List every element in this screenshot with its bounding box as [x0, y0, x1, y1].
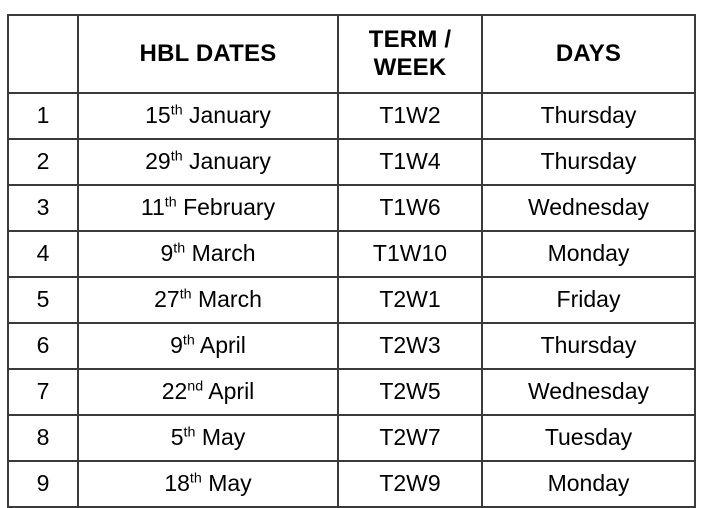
- date-day-number: 15: [145, 102, 171, 128]
- date-day-number: 27: [154, 286, 180, 312]
- cell-index: 3: [8, 185, 78, 231]
- column-header-days: DAYS: [482, 15, 695, 93]
- cell-index: 2: [8, 139, 78, 185]
- cell-index: 1: [8, 93, 78, 139]
- date-ordinal-suffix: th: [165, 195, 177, 211]
- table-body: 115th JanuaryT1W2Thursday229th JanuaryT1…: [8, 93, 695, 507]
- cell-day: Tuesday: [482, 415, 695, 461]
- cell-index: 6: [8, 323, 78, 369]
- date-month-name: May: [202, 424, 245, 450]
- cell-term-week: T1W2: [338, 93, 482, 139]
- cell-term-week: T1W6: [338, 185, 482, 231]
- cell-hbl-date: 29th January: [78, 139, 338, 185]
- date-day-number: 22: [162, 378, 188, 404]
- cell-hbl-date: 9th March: [78, 231, 338, 277]
- column-header-term-week-line1: TERM /: [339, 26, 481, 54]
- date-month-name: March: [192, 240, 256, 266]
- cell-index: 7: [8, 369, 78, 415]
- table-row: 311th FebruaryT1W6Wednesday: [8, 185, 695, 231]
- cell-term-week: T2W7: [338, 415, 482, 461]
- cell-hbl-date: 27th March: [78, 277, 338, 323]
- date-day-number: 5: [171, 424, 184, 450]
- cell-day: Monday: [482, 231, 695, 277]
- table-row: 527th MarchT2W1Friday: [8, 277, 695, 323]
- date-month-name: May: [208, 470, 251, 496]
- cell-index: 4: [8, 231, 78, 277]
- cell-hbl-date: 22nd April: [78, 369, 338, 415]
- date-ordinal-suffix: th: [171, 149, 183, 165]
- cell-index: 8: [8, 415, 78, 461]
- table-row: 85th MayT2W7Tuesday: [8, 415, 695, 461]
- table-row: 918th MayT2W9Monday: [8, 461, 695, 507]
- date-ordinal-suffix: nd: [187, 379, 203, 395]
- date-day-number: 11: [141, 194, 165, 220]
- date-month-name: April: [200, 332, 246, 358]
- date-ordinal-suffix: th: [171, 103, 183, 119]
- date-day-number: 18: [164, 470, 190, 496]
- cell-day: Thursday: [482, 139, 695, 185]
- cell-term-week: T2W5: [338, 369, 482, 415]
- date-ordinal-suffix: th: [190, 471, 202, 487]
- cell-hbl-date: 15th January: [78, 93, 338, 139]
- cell-day: Thursday: [482, 323, 695, 369]
- column-header-index: [8, 15, 78, 93]
- cell-day: Thursday: [482, 93, 695, 139]
- table-header: HBL DATES TERM / WEEK DAYS: [8, 15, 695, 93]
- cell-day: Wednesday: [482, 185, 695, 231]
- header-row: HBL DATES TERM / WEEK DAYS: [8, 15, 695, 93]
- date-month-name: February: [183, 194, 275, 220]
- cell-hbl-date: 9th April: [78, 323, 338, 369]
- cell-term-week: T2W9: [338, 461, 482, 507]
- date-ordinal-suffix: th: [183, 333, 195, 349]
- cell-term-week: T1W10: [338, 231, 482, 277]
- date-ordinal-suffix: th: [184, 425, 196, 441]
- date-ordinal-suffix: th: [173, 241, 185, 257]
- cell-index: 5: [8, 277, 78, 323]
- cell-day: Wednesday: [482, 369, 695, 415]
- date-month-name: January: [189, 148, 271, 174]
- cell-day: Friday: [482, 277, 695, 323]
- table-row: 49th MarchT1W10Monday: [8, 231, 695, 277]
- cell-index: 9: [8, 461, 78, 507]
- column-header-term-week: TERM / WEEK: [338, 15, 482, 93]
- table-row: 115th JanuaryT1W2Thursday: [8, 93, 695, 139]
- column-header-term-week-line2: WEEK: [339, 54, 481, 82]
- date-day-number: 9: [170, 332, 183, 358]
- table-row: 722nd AprilT2W5Wednesday: [8, 369, 695, 415]
- date-month-name: January: [189, 102, 271, 128]
- page-canvas: HBL DATES TERM / WEEK DAYS 115th January…: [0, 0, 701, 495]
- cell-term-week: T2W1: [338, 277, 482, 323]
- cell-term-week: T1W4: [338, 139, 482, 185]
- cell-day: Monday: [482, 461, 695, 507]
- date-month-name: March: [198, 286, 262, 312]
- column-header-hbl-dates: HBL DATES: [78, 15, 338, 93]
- cell-term-week: T2W3: [338, 323, 482, 369]
- table-row: 69th AprilT2W3Thursday: [8, 323, 695, 369]
- date-day-number: 9: [161, 240, 174, 266]
- cell-hbl-date: 5th May: [78, 415, 338, 461]
- hbl-schedule-table: HBL DATES TERM / WEEK DAYS 115th January…: [7, 14, 696, 508]
- date-month-name: April: [208, 378, 254, 404]
- table-row: 229th JanuaryT1W4Thursday: [8, 139, 695, 185]
- date-ordinal-suffix: th: [180, 287, 192, 303]
- cell-hbl-date: 11th February: [78, 185, 338, 231]
- cell-hbl-date: 18th May: [78, 461, 338, 507]
- date-day-number: 29: [145, 148, 171, 174]
